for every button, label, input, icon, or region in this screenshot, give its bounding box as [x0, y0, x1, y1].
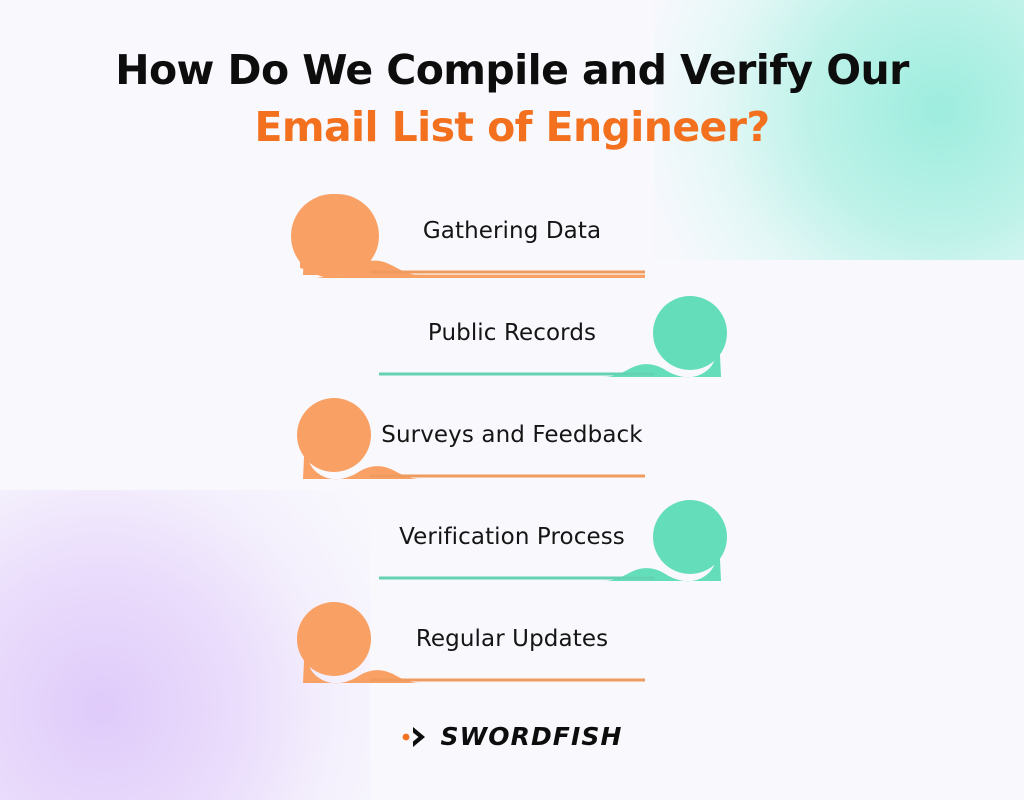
list-item[interactable]: Regular Updates: [0, 594, 1024, 696]
steps-list: Gathering Data Public Records Surveys an…: [0, 186, 1024, 696]
list-item[interactable]: Verification Process: [0, 492, 1024, 594]
comma-marker-right: [0, 492, 1024, 594]
chevron-dot-icon: [401, 724, 431, 750]
comma-marker-left: [0, 390, 1024, 492]
infographic-canvas: How Do We Compile and Verify Our Email L…: [0, 0, 1024, 800]
title-line-1: How Do We Compile and Verify Our: [0, 42, 1024, 99]
brand-logo[interactable]: SWORDFISH: [0, 722, 1024, 751]
brand-name: SWORDFISH: [440, 722, 622, 751]
comma-marker-right: [0, 288, 1024, 390]
list-item[interactable]: Public Records: [0, 288, 1024, 390]
comma-marker-left: [0, 594, 1024, 696]
list-item[interactable]: Gathering Data: [0, 186, 1024, 288]
list-item[interactable]: Surveys and Feedback: [0, 390, 1024, 492]
page-title: How Do We Compile and Verify Our Email L…: [0, 42, 1024, 155]
title-line-2: Email List of Engineer?: [0, 99, 1024, 156]
comma-marker-left: [0, 186, 1024, 288]
